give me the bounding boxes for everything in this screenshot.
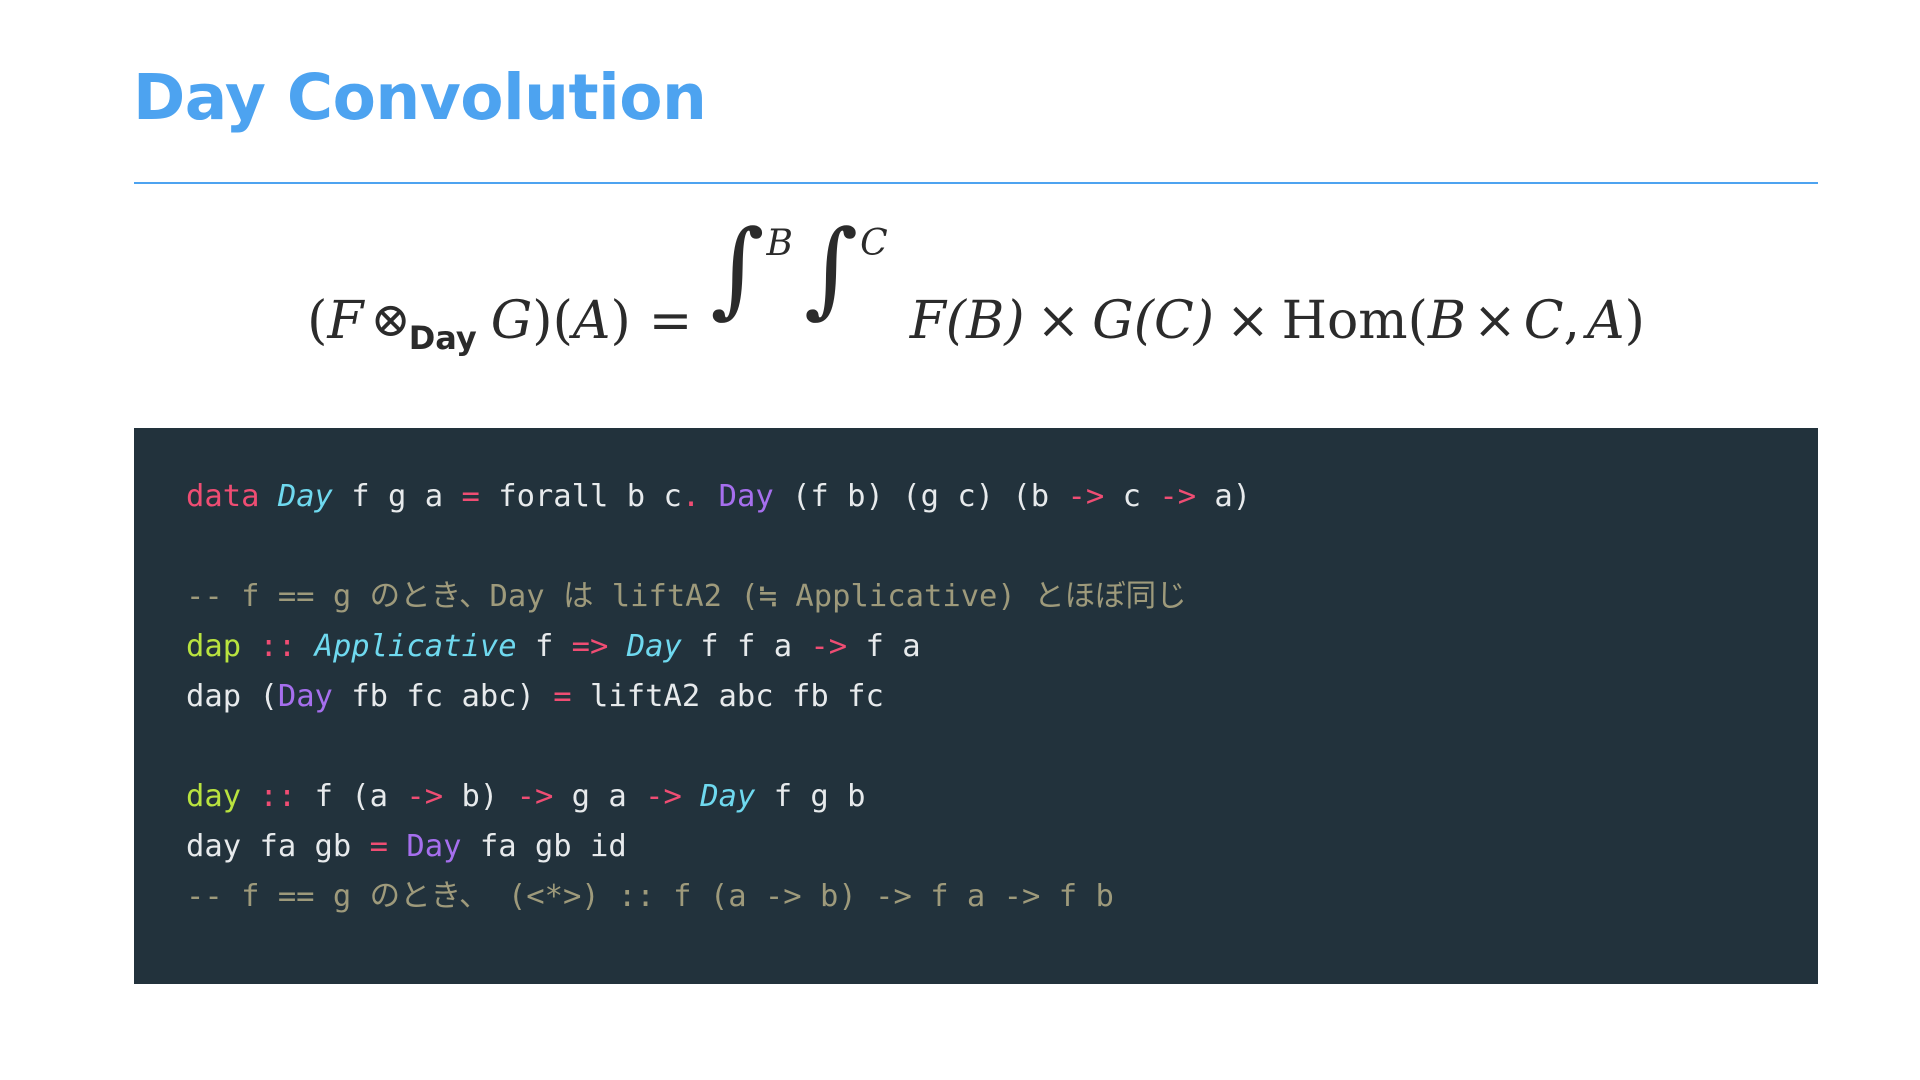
code-token-constructor: Day (278, 679, 333, 714)
math-formula: ( F ⊗ Day G ) ( A ) = ∫ B ∫ C (134, 205, 1818, 345)
line-day-sig: day :: f (a -> b) -> g a -> Day f g b (186, 772, 1766, 822)
integral-sign-icon: ∫ (804, 231, 858, 306)
code-token-plain: c (1104, 479, 1159, 514)
otimes-icon: ⊗ (370, 296, 410, 344)
integral-b: ∫ B (710, 225, 791, 300)
code-token-type: Day (278, 479, 333, 514)
g-of-c: G(C) (1092, 291, 1214, 351)
code-token-plain (388, 829, 406, 864)
arg-close-paren: ) (610, 291, 630, 351)
argument-a: A (573, 291, 611, 351)
otimes-day-group: ⊗ Day (370, 298, 478, 346)
hom-arg-b: B (1428, 291, 1466, 351)
code-token-plain: g a (553, 779, 645, 814)
code-token-plain: f g b (755, 779, 865, 814)
code-token-plain: fb fc abc) (333, 679, 553, 714)
code-token-plain (241, 779, 259, 814)
f-of-b: F(B) (910, 291, 1025, 351)
code-token-keyword: => (572, 629, 609, 664)
integral-superscript-c: C (860, 223, 888, 264)
functor-f: F (327, 291, 363, 351)
arg-open-paren: ( (553, 291, 573, 351)
integral-sign-icon: ∫ (710, 231, 764, 306)
code-token-plain: liftA2 abc fb fc (572, 679, 884, 714)
hom-arg-a: A (1587, 291, 1625, 351)
code-token-keyword: = (370, 829, 388, 864)
code-token-plain (608, 629, 626, 664)
slide: Day Convolution ( F ⊗ Day G ) ( A ) = ∫ … (0, 0, 1920, 1080)
code-token-plain: day fa gb (186, 829, 370, 864)
code-token-keyword: -> (1159, 479, 1196, 514)
code-token-plain: b) (443, 779, 516, 814)
code-token-type: Day (700, 779, 755, 814)
code-token-plain: fa gb id (461, 829, 626, 864)
code-token-plain: f (a (296, 779, 406, 814)
times-operator: × (1037, 291, 1081, 351)
line-comment-2: -- f == g のとき、 (<*>) :: f (a -> b) -> f … (186, 872, 1766, 922)
equals-sign: = (649, 291, 693, 351)
integral-superscript-b: B (767, 223, 793, 264)
line-data-day: data Day f g a = forall b c. Day (f b) (… (186, 472, 1766, 522)
code-token-comment: -- f == g のとき、 (<*>) :: f (a -> b) -> f … (186, 879, 1114, 914)
line-dap-sig: dap :: Applicative f => Day f f a -> f a (186, 622, 1766, 672)
code-token-plain: f f a (682, 629, 811, 664)
code-token-plain (682, 779, 700, 814)
code-token-keyword: -> (517, 779, 554, 814)
code-token-keyword: :: (259, 779, 296, 814)
code-token-function: dap (186, 629, 241, 664)
hom-open-paren: ( (1408, 291, 1428, 351)
lhs-close-paren: ) (532, 291, 552, 351)
code-token-plain (700, 479, 718, 514)
line-dap-def: dap (Day fb fc abc) = liftA2 abc fb fc (186, 672, 1766, 722)
code-token-keyword: -> (406, 779, 443, 814)
code-token-plain (241, 629, 259, 664)
hom-comma: , (1564, 291, 1581, 351)
code-token-plain (296, 629, 314, 664)
page-title: Day Convolution (133, 66, 706, 129)
code-block: data Day f g a = forall b c. Day (f b) (… (134, 428, 1818, 984)
code-token-keyword: -> (645, 779, 682, 814)
code-token-keyword: -> (1068, 479, 1105, 514)
code-token-keyword: = (461, 479, 479, 514)
code-token-keyword: -> (810, 629, 847, 664)
title-divider (134, 182, 1818, 184)
functor-g: G (491, 291, 533, 351)
code-token-type: Applicative (315, 629, 517, 664)
code-token-type: Day (627, 629, 682, 664)
lhs-open-paren: ( (307, 291, 327, 351)
code-token-keyword: = (553, 679, 571, 714)
code-token-plain (186, 729, 204, 764)
line-day-def: day fa gb = Day fa gb id (186, 822, 1766, 872)
times-operator: × (1473, 291, 1517, 351)
code-token-plain: f g a (333, 479, 462, 514)
times-operator: × (1226, 291, 1270, 351)
code-token-constructor: Day (719, 479, 774, 514)
line-blank-2 (186, 722, 1766, 772)
code-token-comment: -- f == g のとき、Day は liftA2 (≒ Applicativ… (186, 579, 1187, 614)
hom-label: Hom (1282, 291, 1408, 351)
code-token-plain: a) (1196, 479, 1251, 514)
code-token-function: day (186, 779, 241, 814)
hom-arg-c: C (1524, 291, 1564, 351)
integral-c: ∫ C (804, 225, 886, 300)
code-token-constructor: Day (406, 829, 461, 864)
line-blank-1 (186, 522, 1766, 572)
otimes-subscript-day: Day (409, 319, 477, 357)
code-token-plain: f a (847, 629, 920, 664)
code-token-plain (259, 479, 277, 514)
code-token-plain: f (517, 629, 572, 664)
code-token-plain: (f b) (g c) (b (774, 479, 1068, 514)
line-comment-1: -- f == g のとき、Day は liftA2 (≒ Applicativ… (186, 572, 1766, 622)
code-token-keyword: data (186, 479, 259, 514)
code-token-plain (186, 529, 204, 564)
formula-row: ( F ⊗ Day G ) ( A ) = ∫ B ∫ C (307, 205, 1645, 351)
code-token-keyword: :: (259, 629, 296, 664)
code-token-plain: forall b c (480, 479, 682, 514)
code-token-plain: dap ( (186, 679, 278, 714)
code-token-keyword: . (682, 479, 700, 514)
hom-close-paren: ) (1625, 291, 1645, 351)
